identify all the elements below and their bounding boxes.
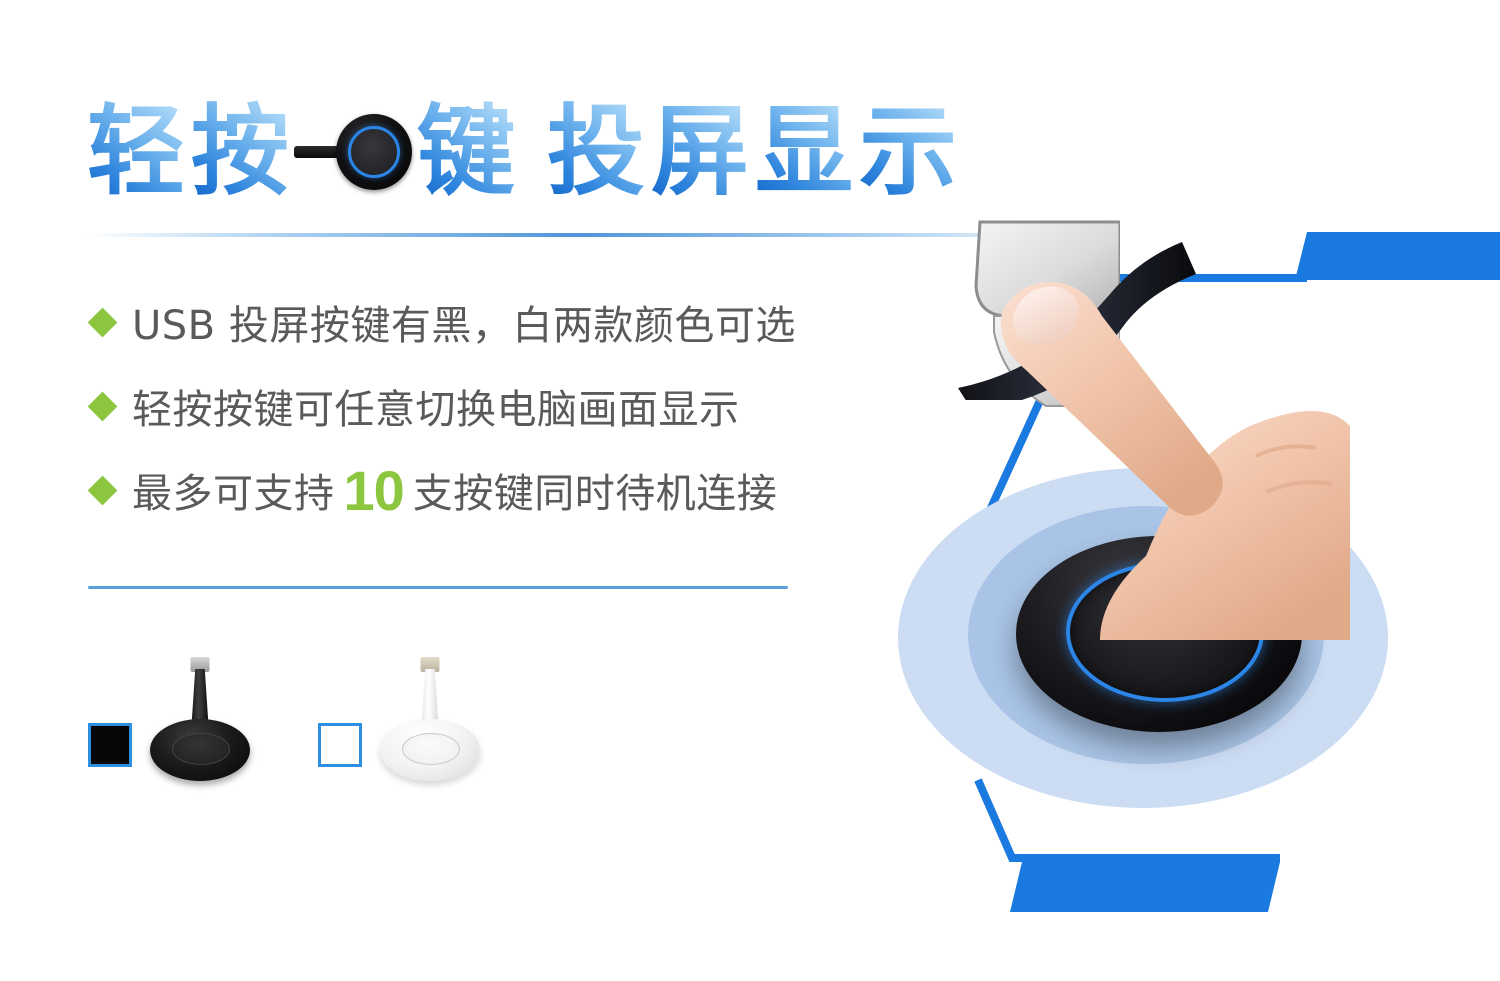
title-char-2: 按 bbox=[188, 100, 292, 204]
title-char-4: 投 bbox=[544, 100, 648, 204]
diamond-bullet-icon bbox=[88, 307, 118, 337]
feature-item-2-label: 轻按按键可任意切换电脑画面显示 bbox=[132, 377, 740, 435]
white-dongle-product-image bbox=[378, 655, 482, 785]
feature-list: USB 投屏按键有黑，白两款颜色可选 轻按按键可任意切换电脑画面显示 最多可支持… bbox=[92, 280, 992, 532]
feature-item-3-label-before: 最多可支持 bbox=[132, 461, 335, 519]
dongle-led-ring bbox=[348, 126, 400, 178]
feature-item-3: 最多可支持 10 支按键同时待机连接 bbox=[92, 448, 992, 532]
title-char-5: 屏 bbox=[648, 100, 752, 204]
pointing-finger-hand bbox=[950, 220, 1350, 640]
title-char-6: 显 bbox=[752, 100, 856, 204]
color-swatch-black[interactable] bbox=[88, 723, 132, 767]
max-devices-count: 10 bbox=[335, 458, 413, 523]
product-banner: 轻 按 键 投 屏 显 示 USB 投屏按键有黑，白两款颜色可选 轻按按键可任意… bbox=[0, 0, 1500, 981]
feature-item-2: 轻按按键可任意切换电脑画面显示 bbox=[92, 364, 992, 448]
dongle-neck bbox=[192, 669, 209, 725]
dongle-neck bbox=[422, 669, 439, 725]
color-options bbox=[88, 655, 482, 785]
dongle-disc-inner-ring bbox=[172, 733, 230, 765]
feature-item-1: USB 投屏按键有黑，白两款颜色可选 bbox=[92, 280, 992, 364]
page-title: 轻 按 键 投 屏 显 示 bbox=[84, 96, 960, 208]
color-swatch-white[interactable] bbox=[318, 723, 362, 767]
divider-bottom bbox=[88, 586, 788, 589]
title-char-3: 键 bbox=[414, 100, 518, 204]
black-dongle-product-image bbox=[148, 655, 252, 785]
title-char-7: 示 bbox=[856, 100, 960, 204]
dongle-disc-inner-ring bbox=[402, 733, 460, 765]
feature-item-1-label: USB 投屏按键有黑，白两款颜色可选 bbox=[132, 293, 796, 351]
color-option-black[interactable] bbox=[88, 655, 252, 785]
title-char-1: 轻 bbox=[84, 100, 188, 204]
color-option-white[interactable] bbox=[318, 655, 482, 785]
diamond-bullet-icon bbox=[88, 475, 118, 505]
hero-illustration bbox=[950, 220, 1500, 920]
wireless-dongle-icon bbox=[292, 109, 412, 195]
diamond-bullet-icon bbox=[88, 391, 118, 421]
feature-item-3-label-after: 支按键同时待机连接 bbox=[413, 461, 778, 519]
